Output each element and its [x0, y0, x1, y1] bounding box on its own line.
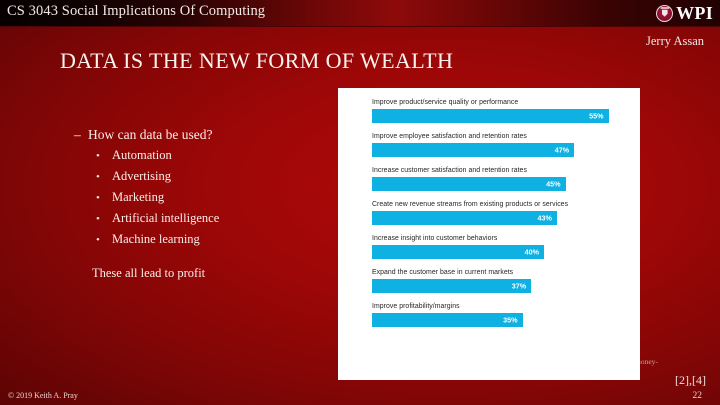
- wpi-wordmark: WPI: [676, 4, 713, 22]
- course-title: CS 3043 Social Implications Of Computing: [7, 3, 265, 20]
- wpi-seal-icon: [656, 5, 673, 22]
- bar-fill: 47%: [372, 143, 574, 157]
- wpi-logo: WPI: [656, 2, 713, 24]
- bar-value-label: 45%: [546, 179, 560, 188]
- list-item: • Machine learning: [96, 232, 324, 247]
- dash-marker-icon: –: [74, 127, 88, 143]
- bar-fill: 55%: [372, 109, 609, 123]
- citation-reference: [2],[4]: [675, 373, 706, 388]
- presentation-slide: CS 3043 Social Implications Of Computing…: [0, 0, 720, 405]
- bar-value-label: 55%: [589, 111, 603, 120]
- bar-track: 37%: [372, 279, 630, 293]
- bullet-dot-icon: •: [96, 213, 112, 225]
- bar-chart: Improve product/service quality or perfo…: [372, 99, 630, 372]
- list-item-label: Marketing: [112, 190, 164, 205]
- bar-track: 45%: [372, 177, 630, 191]
- bar-category-label: Improve product/service quality or perfo…: [372, 99, 630, 106]
- bar-track: 47%: [372, 143, 630, 157]
- bullet-dot-icon: •: [96, 171, 112, 183]
- list-item-label: Advertising: [112, 169, 171, 184]
- bar-value-label: 43%: [538, 213, 552, 222]
- bar-fill: 37%: [372, 279, 531, 293]
- bar-category-label: Improve employee satisfaction and retent…: [372, 133, 630, 140]
- bar-row: Improve employee satisfaction and retent…: [372, 133, 630, 157]
- bar-track: 43%: [372, 211, 630, 225]
- list-item: • Automation: [96, 148, 324, 163]
- bar-row: Improve profitability/margins35%: [372, 303, 630, 327]
- bar-value-label: 37%: [512, 281, 526, 290]
- list-item-label: Machine learning: [112, 232, 200, 247]
- bar-fill: 45%: [372, 177, 566, 191]
- list-item: • Artificial intelligence: [96, 211, 324, 226]
- bullet-question-label: How can data be used?: [88, 127, 212, 143]
- bullet-question: – How can data be used?: [74, 127, 324, 143]
- page-title: DATA IS THE NEW FORM OF WEALTH: [60, 48, 453, 74]
- bar-fill: 40%: [372, 245, 544, 259]
- bar-value-label: 47%: [555, 145, 569, 154]
- bar-category-label: Improve profitability/margins: [372, 303, 630, 310]
- slide-number: 22: [693, 391, 703, 401]
- bullet-list: – How can data be used? • Automation • A…: [74, 127, 324, 281]
- bar-category-label: Expand the customer base in current mark…: [372, 269, 630, 276]
- bar-value-label: 40%: [525, 247, 539, 256]
- list-item: • Marketing: [96, 190, 324, 205]
- bar-track: 35%: [372, 313, 630, 327]
- slide-header-bar: CS 3043 Social Implications Of Computing…: [0, 0, 720, 27]
- chart-panel: Improve product/service quality or perfo…: [338, 88, 640, 380]
- copyright-notice: © 2019 Keith A. Pray: [8, 391, 78, 400]
- bar-track: 40%: [372, 245, 630, 259]
- bar-track: 55%: [372, 109, 630, 123]
- bar-row: Improve product/service quality or perfo…: [372, 99, 630, 123]
- bullet-dot-icon: •: [96, 234, 112, 246]
- list-item: • Advertising: [96, 169, 324, 184]
- list-item-label: Artificial intelligence: [112, 211, 219, 226]
- bar-row: Increase customer satisfaction and reten…: [372, 167, 630, 191]
- presenter-name: Jerry Assan: [646, 34, 704, 49]
- bar-category-label: Increase customer satisfaction and reten…: [372, 167, 630, 174]
- bar-row: Increase insight into customer behaviors…: [372, 235, 630, 259]
- bar-value-label: 35%: [503, 315, 517, 324]
- bullet-dot-icon: •: [96, 192, 112, 204]
- list-item-label: Automation: [112, 148, 172, 163]
- bar-row: Expand the customer base in current mark…: [372, 269, 630, 293]
- bar-category-label: Increase insight into customer behaviors: [372, 235, 630, 242]
- bar-fill: 43%: [372, 211, 557, 225]
- bar-fill: 35%: [372, 313, 523, 327]
- bullet-dot-icon: •: [96, 150, 112, 162]
- closing-statement: These all lead to profit: [92, 266, 324, 281]
- bar-category-label: Create new revenue streams from existing…: [372, 201, 630, 208]
- bar-row: Create new revenue streams from existing…: [372, 201, 630, 225]
